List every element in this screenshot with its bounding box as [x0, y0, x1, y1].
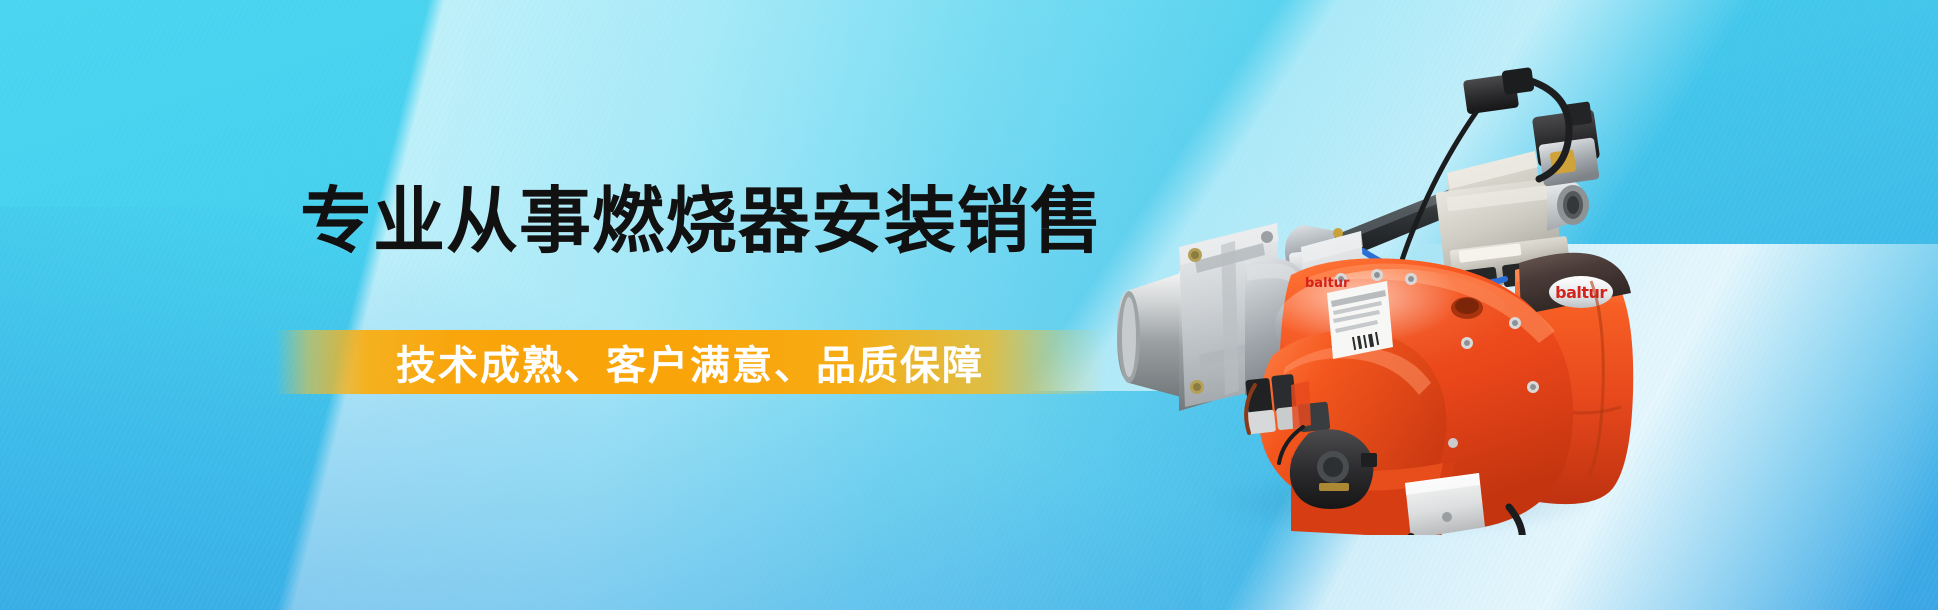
subtitle-banner-bar: 技术成熟、客户满意、品质保障 — [275, 330, 1105, 394]
page-title: 专业从事燃烧器安装销售 — [300, 185, 1103, 258]
brand-badge-text: baltur — [1555, 283, 1607, 302]
product-image-burner: baltur — [1095, 55, 1695, 535]
subtitle-text: 技术成熟、客户满意、品质保障 — [396, 333, 984, 391]
body-brand-text: baltur — [1305, 276, 1350, 291]
promo-banner: 专业从事燃烧器安装销售 技术成熟、客户满意、品质保障 — [0, 0, 1938, 610]
